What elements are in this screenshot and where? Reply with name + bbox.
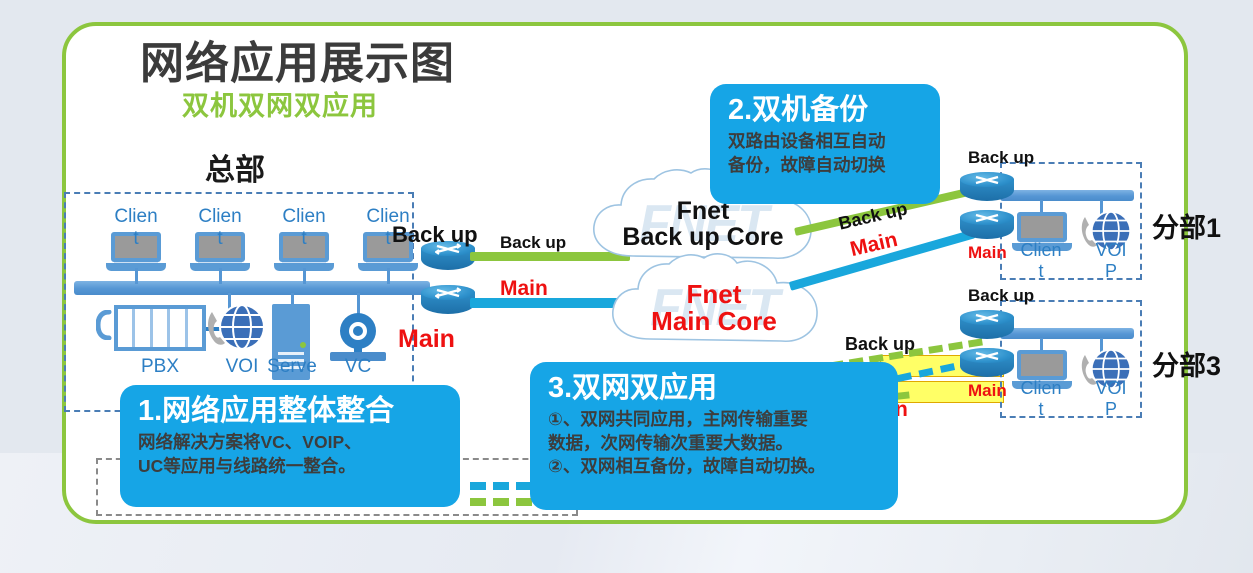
hq-client-label-3: Clien t [273,206,335,250]
branch3-client-label: Clien t [1011,378,1071,420]
callout-3-body: ①、双网共同应用，主网传输重要 数据，次网传输次重要大数据。 ②、双网相互备份，… [548,408,880,478]
router-arrows-icon [974,174,1000,186]
hq-lan-bus [74,281,430,295]
pbx-icon [114,305,206,351]
branch1-title: 分部1 [1152,206,1221,245]
pbx-handset-icon [96,310,112,340]
branch1-lan-bus [1000,190,1134,201]
branch3-voip-label: VOI P [1082,378,1140,420]
router-arrows-icon [974,312,1000,324]
main-core-cloud: FNET Fnet Main Core [598,253,830,363]
branch3-router-main-label: Main [968,381,1007,401]
pbx-slot [135,309,152,347]
hq-client-label-1: Clien t [105,206,167,250]
server-line [278,352,304,355]
hq-router-main-label: Main [398,325,455,354]
hq-vc-drop [357,293,360,315]
hq-client-drop-2 [219,268,222,284]
hq-device-label-server: Serve [252,356,332,378]
backup-core-label: Fnet Back up Core [578,198,828,251]
page-subtitle: 双机双网双应用 [182,84,378,123]
callout-3-title: 3.双网双应用 [548,372,880,405]
branch3-lan-bus [1000,328,1134,339]
pbx-slot [153,309,170,347]
router-arrows-icon [974,350,1000,362]
branch3-router-backup-label: Back up [968,286,1034,306]
vc-lens-ring [349,322,367,340]
hq-device-label-vc: VC [330,356,386,378]
hq-device-label-pbx: PBX [116,356,204,378]
callout-1-title: 1.网络应用整体整合 [138,395,442,428]
branch3-backup-link-label: Back up [845,334,915,355]
branch1-router-backup-label: Back up [968,148,1034,168]
voip-globe-icon [218,303,266,356]
branch1-client-label: Clien t [1011,240,1071,282]
callout-1-body: 网络解决方案将VC、VOIP、 UC等应用与线路统一整合。 [138,431,442,478]
callout-2-title: 2.双机备份 [728,94,922,127]
hq-main-link-label: Main [500,277,548,301]
branch1-router-main-label: Main [968,243,1007,263]
callout-1[interactable]: 1.网络应用整体整合 网络解决方案将VC、VOIP、 UC等应用与线路统一整合。 [120,385,460,507]
branch1-router-backup[interactable] [960,172,1014,206]
branch3-router-main[interactable] [960,348,1014,382]
vc-lens-icon [340,313,376,349]
hq-client-drop-1 [135,268,138,284]
router-arrows-icon [974,212,1000,224]
hq-backup-link-label: Back up [500,233,566,253]
laptop-screen-icon [1017,350,1067,380]
laptop-screen-icon [1017,212,1067,242]
callout-3[interactable]: 3.双网双应用 ①、双网共同应用，主网传输重要 数据，次网传输次重要大数据。 ②… [530,362,898,510]
callout-2-body: 双路由设备相互自动 备份，故障自动切换 [728,130,922,177]
pbx-slot [188,309,202,347]
hq-router-main[interactable] [421,285,475,319]
callout-2[interactable]: 2.双机备份 双路由设备相互自动 备份，故障自动切换 [710,84,940,204]
pbx-slot [170,309,187,347]
router-arrows-icon [435,287,461,299]
branch1-voip-label: VOI P [1082,240,1140,282]
page-title: 网络应用展示图 [140,27,455,91]
hq-client-drop-4 [387,268,390,284]
branch3-title: 分部3 [1152,344,1221,383]
pbx-slot [118,309,135,347]
vc-camera-icon [330,313,386,361]
hq-client-label-2: Clien t [189,206,251,250]
branch3-router-backup[interactable] [960,310,1014,344]
branch1-router-main[interactable] [960,210,1014,244]
hq-router-backup-label: Back up [392,222,478,248]
hq-client-drop-3 [303,268,306,284]
headquarters-title: 总部 [205,145,265,189]
diagram-canvas: 网络应用展示图 双机双网双应用 总部 [0,0,1253,573]
server-led-icon [300,342,306,348]
